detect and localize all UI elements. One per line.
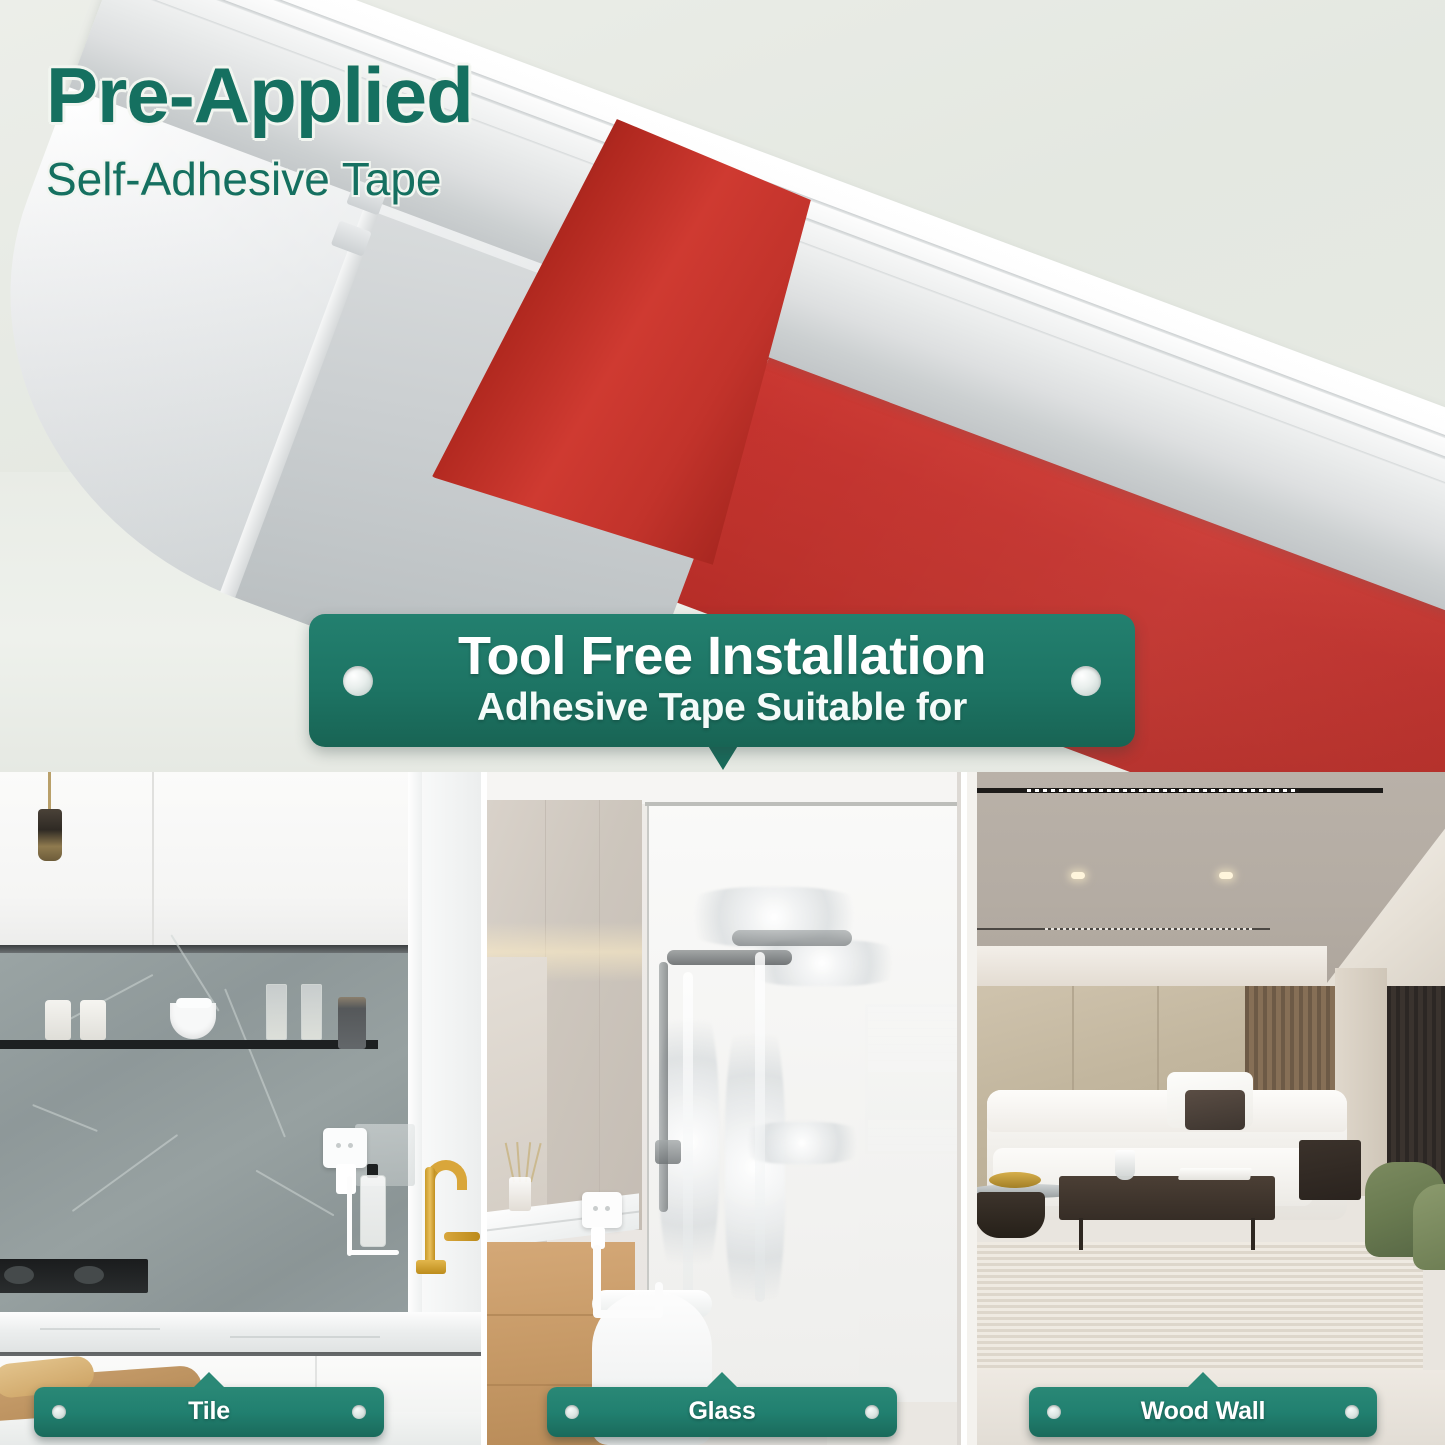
round-side-table-base	[975, 1192, 1045, 1238]
hero-text-block: Pre-Applied Self-Adhesive Tape	[46, 56, 473, 202]
light-track-dots-secondary	[1045, 928, 1255, 930]
outlet-plug	[336, 1164, 356, 1194]
plaque-pointer	[707, 744, 739, 770]
coffee-table-legs	[1079, 1218, 1255, 1250]
shower-valve	[655, 1140, 681, 1164]
surface-tag-tile[interactable]: Tile	[34, 1387, 384, 1437]
surface-tag-label: Glass	[547, 1397, 897, 1426]
reed-diffuser-bottle	[509, 1177, 531, 1211]
kitchen-cabinet-shadow	[0, 945, 408, 953]
reed-diffuser-sticks	[511, 1142, 531, 1182]
surface-tag-glass[interactable]: Glass	[547, 1387, 897, 1437]
countertop-vein	[230, 1336, 380, 1338]
surface-panel-tile[interactable]: Tile	[0, 772, 481, 1445]
surface-photo-strip: Tile	[0, 772, 1445, 1445]
side-cabinet	[1299, 1140, 1361, 1200]
page-subtitle: Self-Adhesive Tape	[46, 156, 473, 202]
outlet-hole	[593, 1206, 598, 1211]
rainfall-showerhead	[732, 930, 852, 946]
outlet-hole	[336, 1143, 341, 1148]
dark-coffee-table	[1059, 1176, 1275, 1220]
plug-cable-horizontal	[347, 1250, 399, 1255]
kitchen-cabinet-seam	[152, 772, 154, 950]
light-track-dots	[1027, 789, 1297, 792]
open-book	[1178, 1168, 1252, 1180]
kitchen-floating-shelf	[0, 1040, 378, 1049]
gold-faucet-spout	[425, 1167, 435, 1267]
outlet-hole	[348, 1143, 353, 1148]
plaque-title: Tool Free Installation	[309, 628, 1135, 685]
water-stream	[755, 952, 765, 1302]
ceiling-downlight	[1219, 872, 1233, 879]
gas-stove	[0, 1259, 148, 1293]
ceramic-jar	[45, 1000, 71, 1040]
pendant-light-cord	[48, 772, 51, 812]
bathroom-right-edge	[957, 772, 961, 1445]
striped-area-rug	[973, 1242, 1423, 1374]
wall-outlet	[323, 1128, 367, 1168]
stove-burner	[74, 1266, 104, 1284]
kitchen-upper-cabinets	[0, 772, 408, 950]
surface-tag-wood-wall[interactable]: Wood Wall	[1029, 1387, 1377, 1437]
stove-burner	[4, 1266, 34, 1284]
shower-glass-frame	[645, 802, 959, 806]
tool-free-installation-plaque: Tool Free Installation Adhesive Tape Sui…	[309, 614, 1135, 747]
kitchen-door-frame	[408, 772, 422, 1312]
shower-arm	[667, 950, 792, 965]
tile-seam	[599, 800, 600, 1230]
surface-tag-label: Wood Wall	[1029, 1397, 1377, 1426]
bidet-hose-riser	[655, 1282, 663, 1318]
ceramic-bowl-rim	[176, 998, 212, 1008]
tag-pointer-icon	[706, 1372, 738, 1388]
gold-faucet-handle	[444, 1232, 480, 1241]
wall-outlet	[582, 1192, 622, 1228]
gold-faucet-base	[416, 1260, 446, 1274]
plug-cable-vertical	[347, 1176, 352, 1256]
countertop-vein	[40, 1328, 160, 1330]
bidet-hose-horizontal	[593, 1310, 661, 1318]
tag-pointer-icon	[193, 1372, 225, 1388]
ceiling-cove	[967, 946, 1327, 986]
shower-slide-bar	[659, 962, 668, 1212]
ceiling-downlight	[1071, 872, 1085, 879]
bidet-hose-vertical	[593, 1245, 601, 1317]
living-room-left-edge	[967, 772, 977, 1445]
page-title: Pre-Applied	[46, 56, 473, 134]
surface-tag-label: Tile	[34, 1397, 384, 1426]
glass-carafe	[1115, 1150, 1135, 1180]
water-stream	[683, 972, 693, 1302]
green-velvet-armchair-second	[1413, 1184, 1445, 1270]
soap-dispenser	[360, 1175, 386, 1247]
brass-decor-bowl	[989, 1172, 1041, 1188]
surface-panel-glass[interactable]: Glass	[487, 772, 961, 1445]
dark-canister	[338, 997, 366, 1049]
tag-pointer-icon	[1187, 1372, 1219, 1388]
ceramic-jar	[80, 1000, 106, 1040]
plaque-subtitle: Adhesive Tape Suitable for	[309, 688, 1135, 729]
pendant-light	[38, 809, 62, 861]
marble-countertop	[0, 1312, 481, 1354]
surface-panel-wood-wall[interactable]: Wood Wall	[967, 772, 1445, 1445]
dark-accent-pillow	[1185, 1090, 1245, 1130]
glass-jar	[266, 984, 287, 1040]
glass-jar	[301, 984, 322, 1040]
outlet-hole	[605, 1206, 610, 1211]
